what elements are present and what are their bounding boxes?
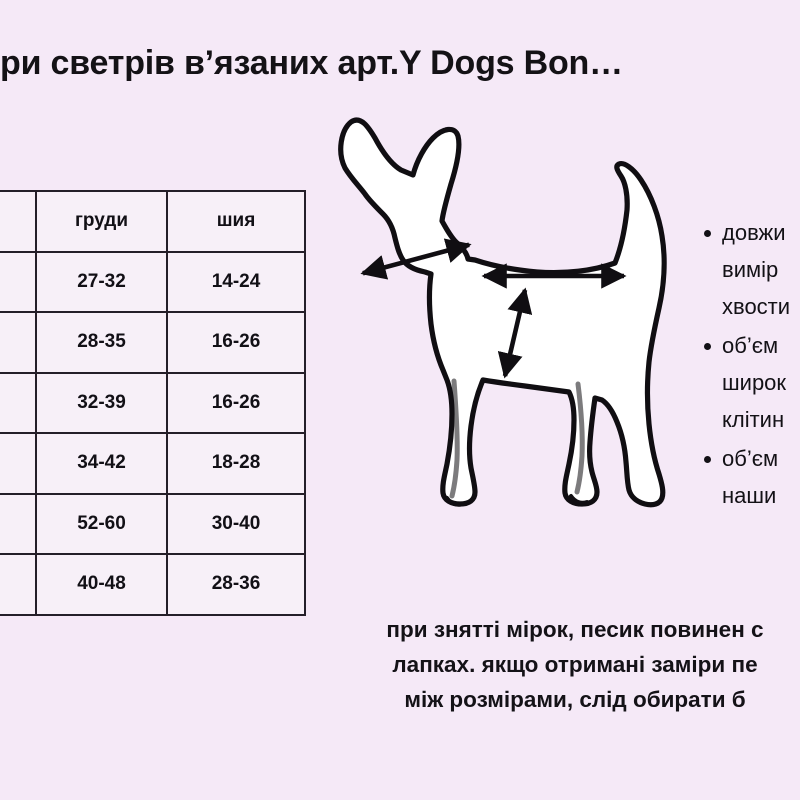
bullet-line: широк <box>722 364 800 401</box>
cell-neck: 16-26 <box>167 312 305 373</box>
bullet-line: вимір <box>722 251 800 288</box>
column-header-neck: шия <box>167 191 305 252</box>
cell-length <box>0 373 36 434</box>
table-row: 34-42 18-28 <box>0 433 305 494</box>
cell-neck: 18-28 <box>167 433 305 494</box>
page-title: …міри светрів в’язаних арт.Y Dogs Bon… <box>0 44 800 83</box>
cell-length <box>0 252 36 313</box>
cell-length <box>0 554 36 615</box>
bullet-line: клітин <box>722 401 800 438</box>
bullet-line: довжи <box>722 214 800 251</box>
table-row: 32-39 16-26 <box>0 373 305 434</box>
size-chart-table: …а груди шия 27-32 14-24 28-35 16-26 32-… <box>0 190 306 616</box>
measuring-note: при знятті мірок, песик повинен с лапках… <box>0 612 800 717</box>
cell-neck: 16-26 <box>167 373 305 434</box>
table-row: 28-35 16-26 <box>0 312 305 373</box>
column-header-length: …а <box>0 191 36 252</box>
column-header-chest: груди <box>36 191 167 252</box>
measurement-instructions-list: довжи вимір хвости об’єм широк клітин об… <box>700 214 800 516</box>
table-row: 52-60 30-40 <box>0 494 305 555</box>
bullet-line: об’єм <box>722 327 800 364</box>
bullet-line: хвости <box>722 288 800 325</box>
dog-body-outline <box>341 120 664 505</box>
dog-side-view-diagram <box>325 108 715 568</box>
cell-chest: 28-35 <box>36 312 167 373</box>
note-line: між розмірами, слід обирати б <box>0 682 800 717</box>
table-row: 40-48 28-36 <box>0 554 305 615</box>
list-item: довжи вимір хвости <box>722 214 800 325</box>
list-item: об’єм широк клітин <box>722 327 800 438</box>
table-row: 27-32 14-24 <box>0 252 305 313</box>
note-line: при знятті мірок, песик повинен с <box>0 612 800 647</box>
table-header-row: …а груди шия <box>0 191 305 252</box>
bullet-line: наши <box>722 477 800 514</box>
cell-length <box>0 494 36 555</box>
cell-length <box>0 312 36 373</box>
cell-chest: 40-48 <box>36 554 167 615</box>
cell-chest: 27-32 <box>36 252 167 313</box>
list-item: об’єм наши <box>722 440 800 514</box>
cell-chest: 52-60 <box>36 494 167 555</box>
cell-length <box>0 433 36 494</box>
cell-chest: 34-42 <box>36 433 167 494</box>
cell-neck: 14-24 <box>167 252 305 313</box>
note-line: лапках. якщо отримані заміри пе <box>0 647 800 682</box>
cell-neck: 30-40 <box>167 494 305 555</box>
cell-chest: 32-39 <box>36 373 167 434</box>
bullet-line: об’єм <box>722 440 800 477</box>
cell-neck: 28-36 <box>167 554 305 615</box>
